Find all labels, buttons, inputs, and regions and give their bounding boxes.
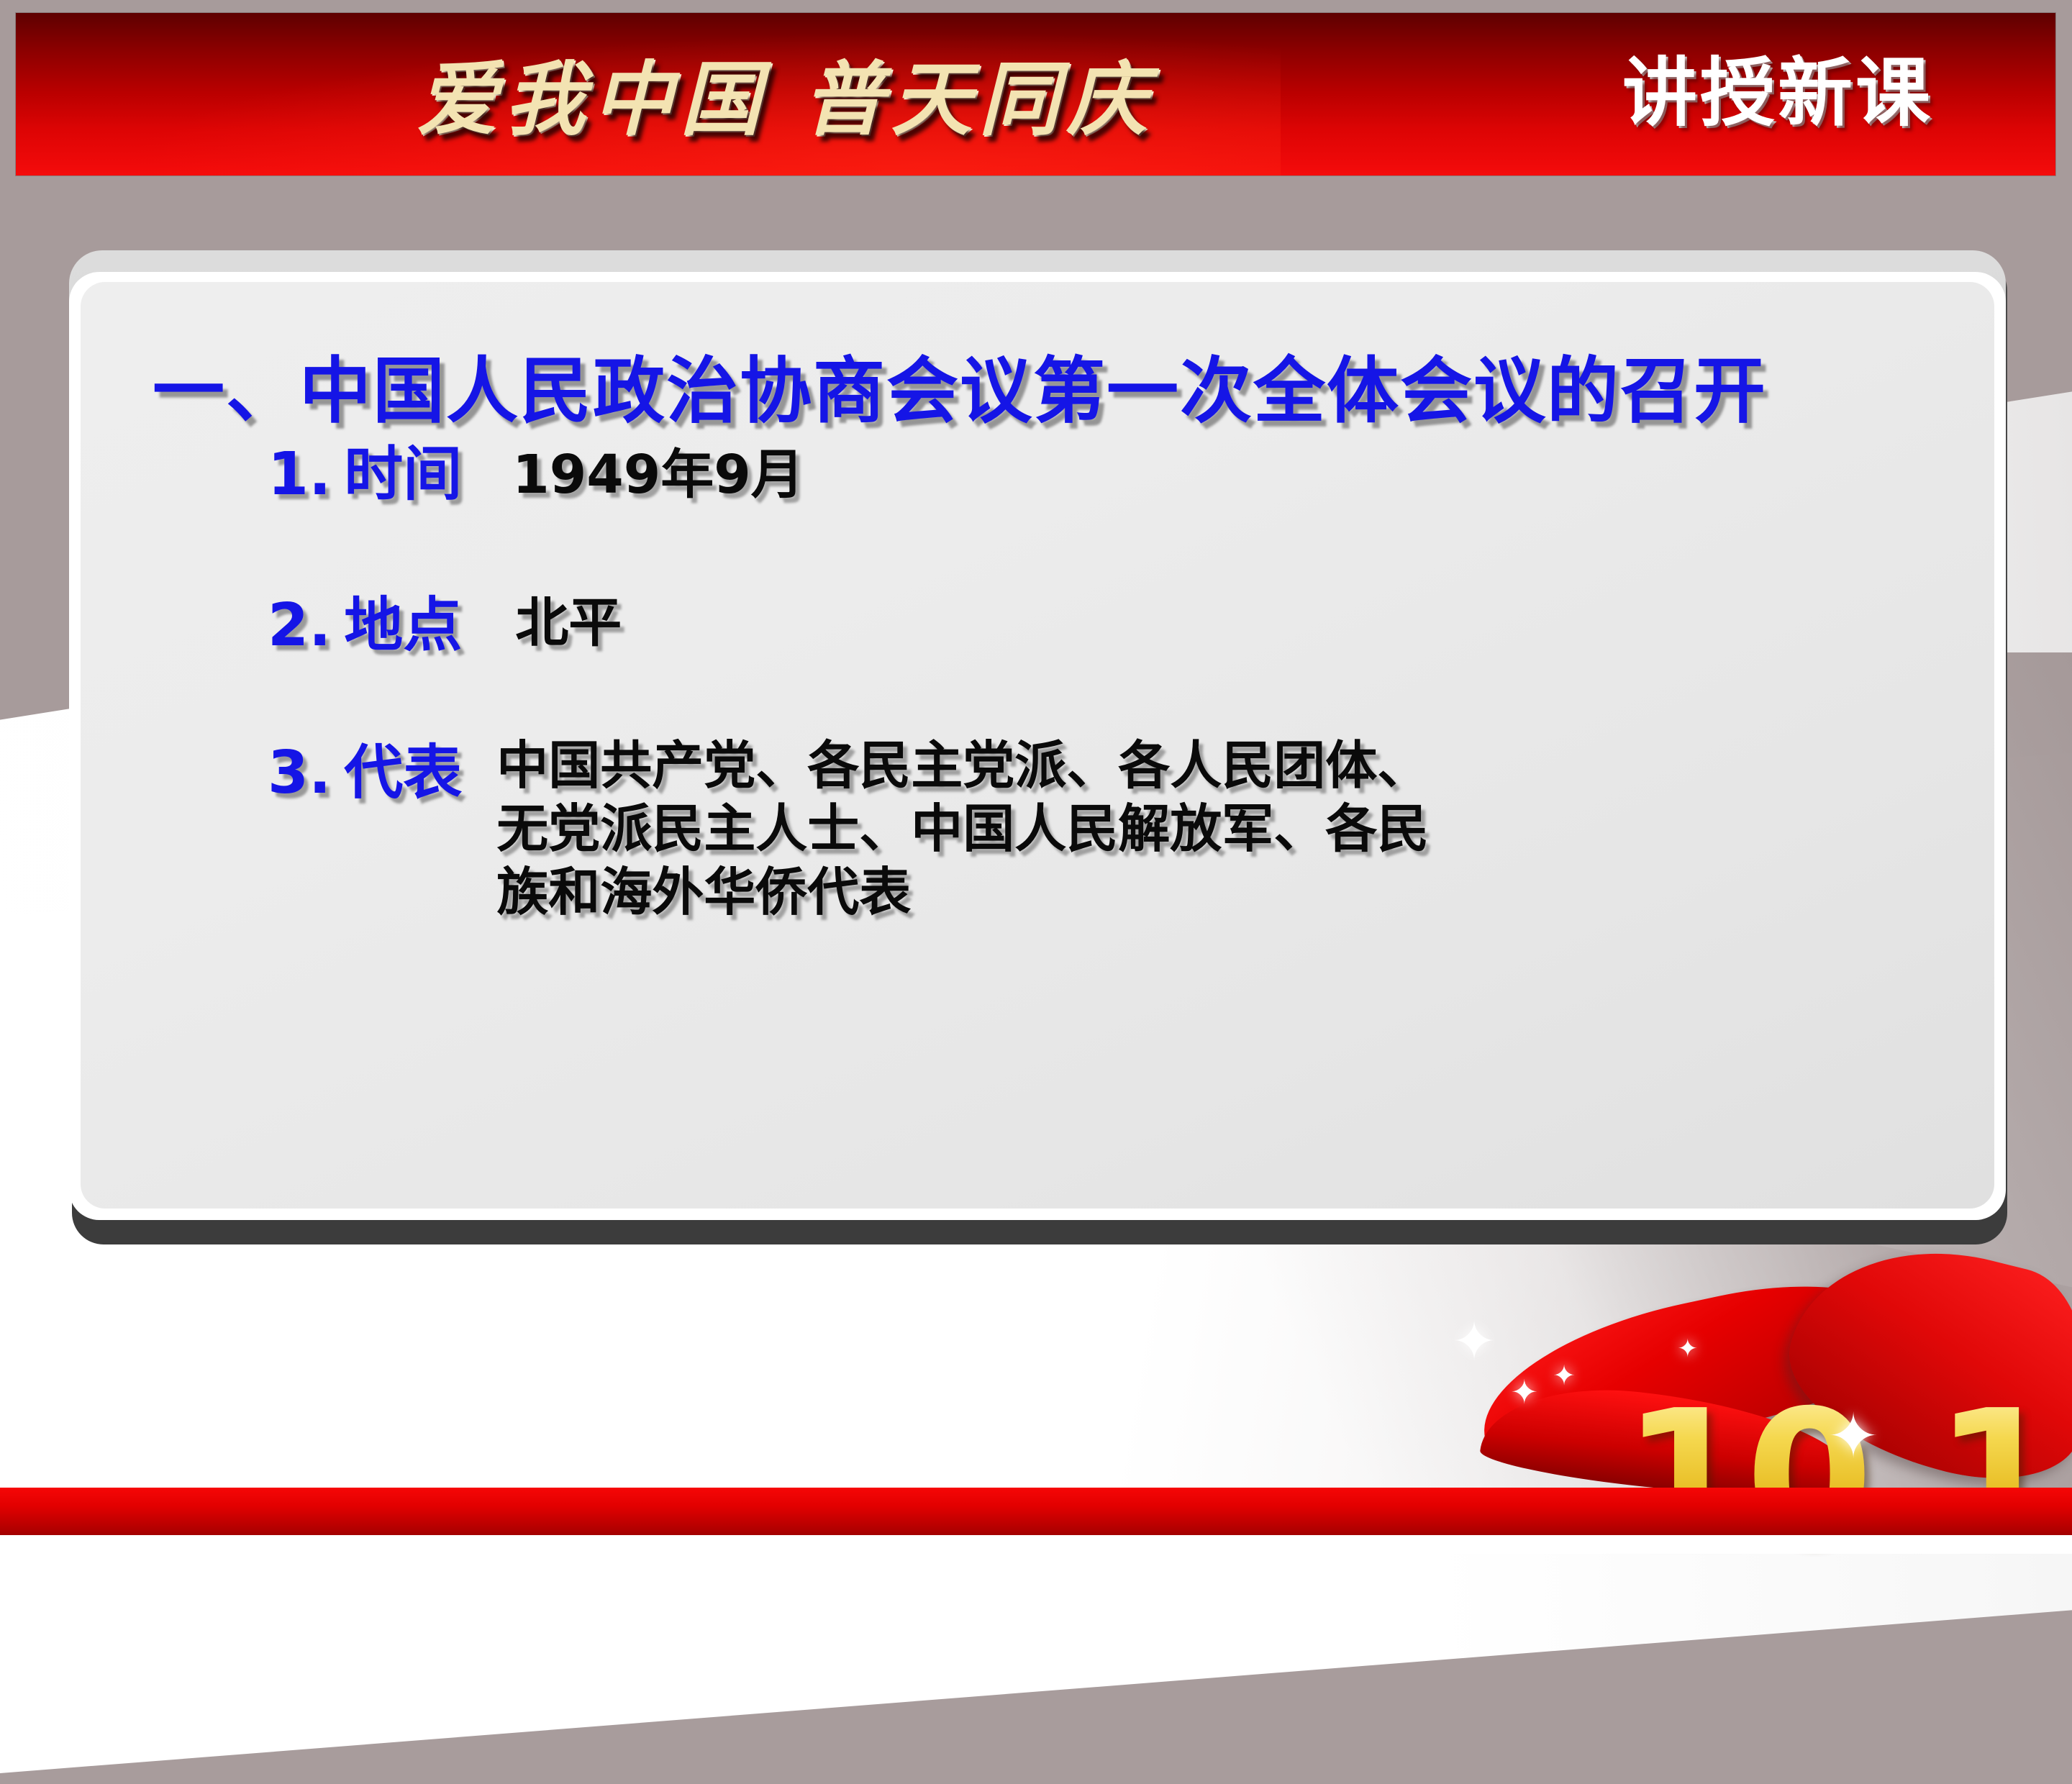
list-item-label-text: 代表: [344, 739, 462, 807]
list-item-separator: .: [309, 591, 331, 660]
representatives-line: 中国共产党、各民主党派、各人民团体、: [496, 734, 1429, 798]
banner-topic-label: 讲授新课: [1622, 32, 1933, 140]
list-item-value-place: 北平: [515, 580, 622, 657]
list-item-label-time: 1.时间: [268, 426, 462, 511]
list-item-value-representatives: 中国共产党、各民主党派、各人民团体、 无党派民主人士、中国人民解放军、各民 族和…: [496, 734, 1429, 924]
list-item-separator: .: [309, 440, 331, 509]
list-item-time: 1.时间 1949年9月: [268, 426, 804, 511]
list-item-value-time: 1949年9月: [512, 432, 804, 509]
list-item-label-text: 时间: [344, 440, 462, 509]
list-item-label-place: 2.地点: [268, 577, 462, 663]
list-item-separator: .: [309, 739, 331, 807]
content-panel: 一、中国人民政治协商会议第一次全体会议的召开 1.时间 1949年9月 2.地点…: [81, 282, 1994, 1209]
list-item-place: 2.地点 北平: [268, 577, 622, 663]
representatives-line: 无党派民主人士、中国人民解放军、各民: [496, 798, 1429, 861]
list-item-representatives: 3.代表 中国共产党、各民主党派、各人民团体、 无党派民主人士、中国人民解放军、…: [268, 724, 1429, 924]
page-title: 一、中国人民政治协商会议第一次全体会议的召开: [153, 332, 1767, 437]
list-item-label-representatives: 3.代表: [268, 724, 462, 810]
banner-calligraphy-title: 爱我中国 普天同庆: [447, 39, 1124, 147]
list-item-number: 2: [268, 591, 309, 660]
footer-white-strip: [0, 1535, 2072, 1554]
list-item-number: 1: [268, 440, 309, 509]
representatives-line: 族和海外华侨代表: [496, 861, 1429, 924]
list-item-number: 3: [268, 739, 309, 807]
list-item-label-text: 地点: [344, 591, 462, 660]
header-banner: 爱我中国 普天同庆 讲授新课: [16, 13, 2055, 176]
